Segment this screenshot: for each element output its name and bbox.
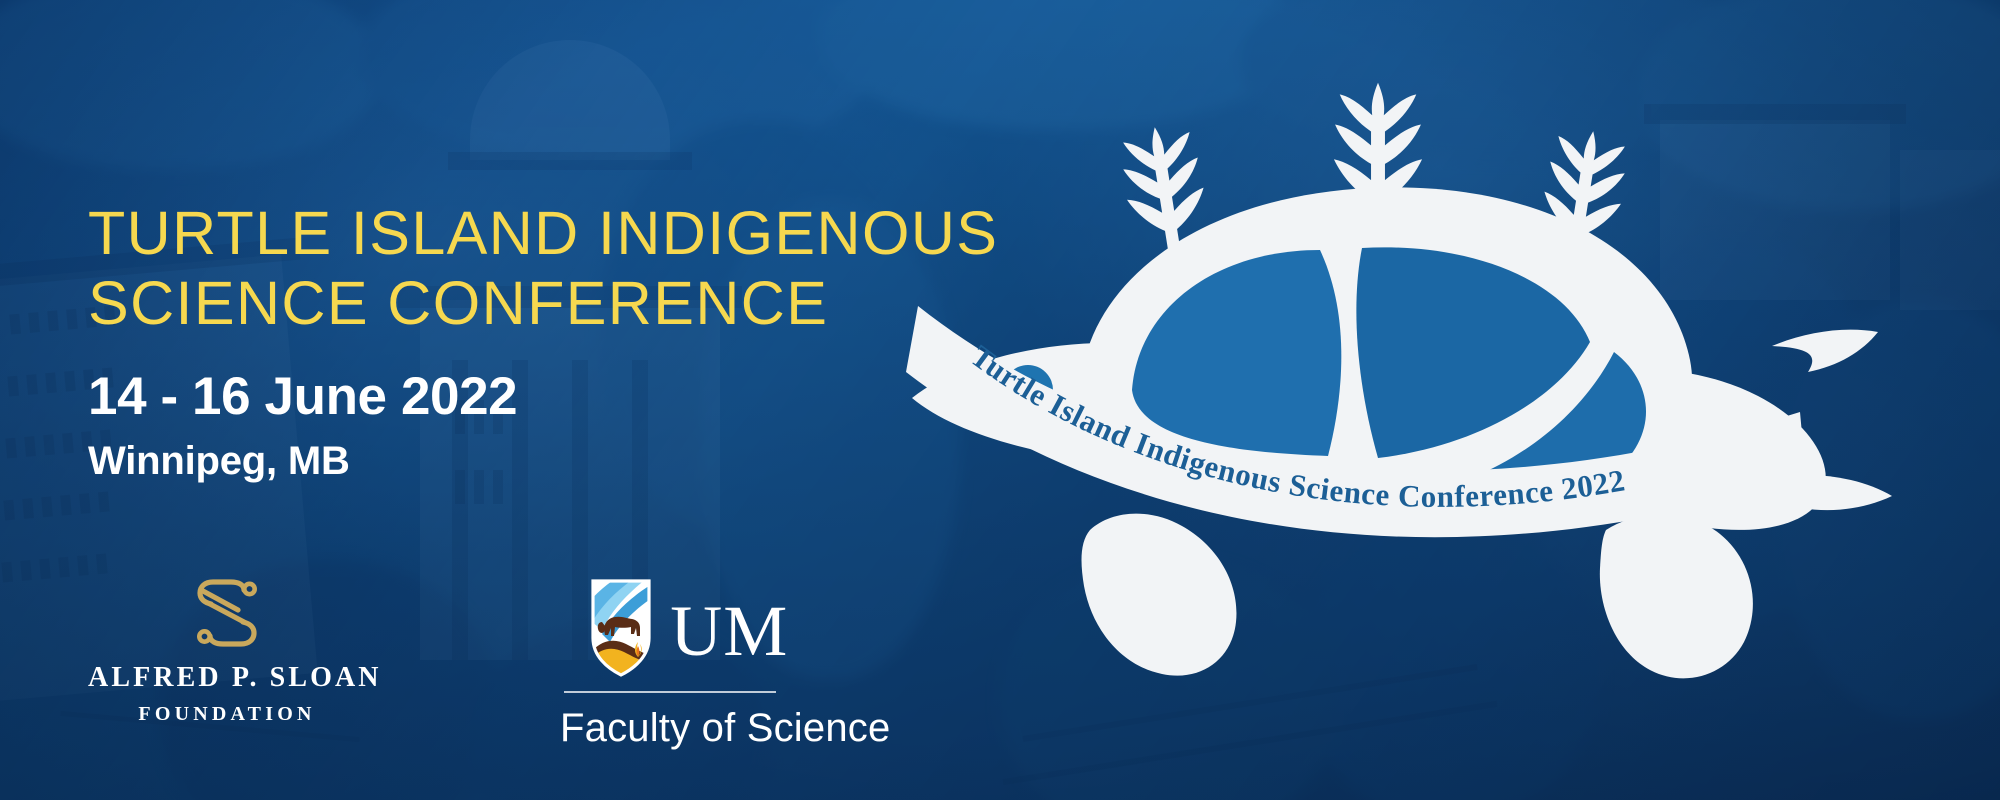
sloan-name-line-1: ALFRED P. SLOAN	[88, 662, 366, 694]
conference-banner: TURTLE ISLAND INDIGENOUS SCIENCE CONFERE…	[0, 0, 2000, 800]
sloan-s-monogram-icon	[88, 578, 366, 648]
sloan-foundation-logo: ALFRED P. SLOAN FOUNDATION	[88, 578, 366, 726]
turtle-island-logo: Turtle Island Indigenous Science Confere…	[900, 60, 1990, 760]
sloan-name-line-2: FOUNDATION	[88, 703, 366, 726]
um-letters: UM	[670, 595, 788, 667]
sponsor-logos: ALFRED P. SLOAN FOUNDATION	[88, 578, 890, 750]
um-divider-rule	[564, 691, 776, 693]
um-bison-shield-icon	[590, 578, 652, 683]
university-of-manitoba-logo: UM Faculty of Science	[488, 578, 890, 750]
um-faculty-name: Faculty of Science	[560, 706, 890, 750]
